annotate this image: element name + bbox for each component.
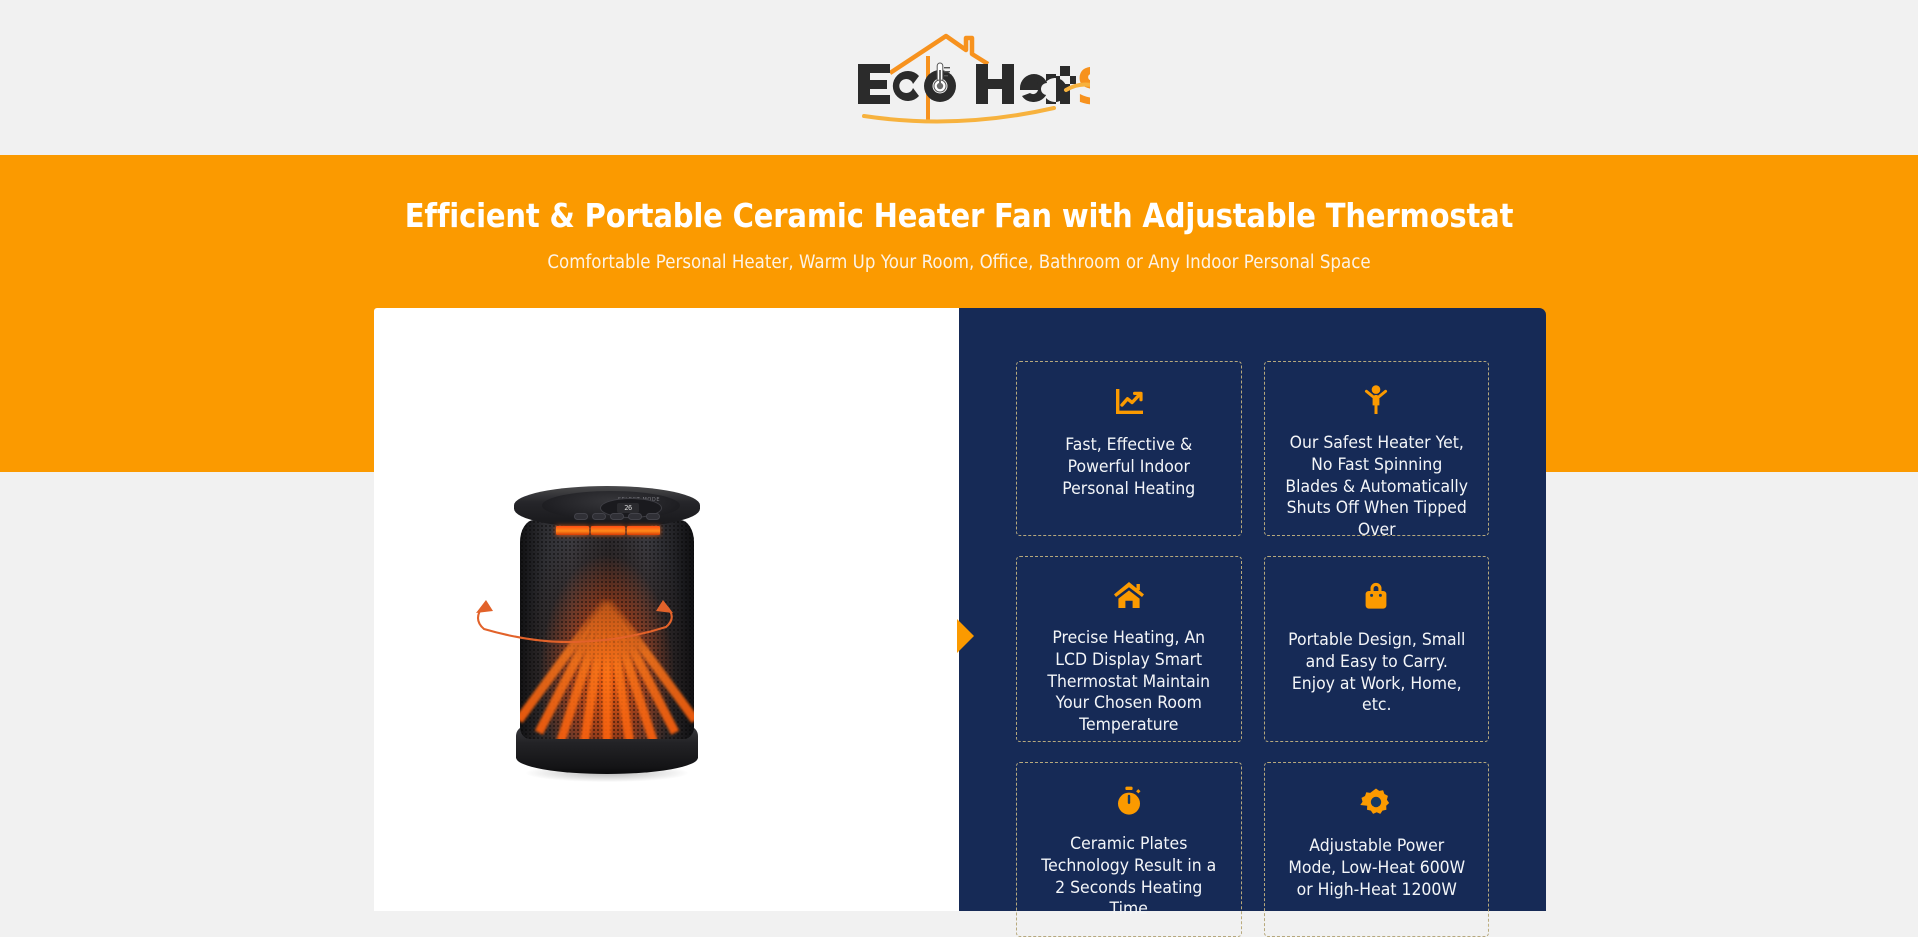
stopwatch-icon bbox=[1112, 785, 1146, 817]
heater-lcd-display: 26 bbox=[617, 503, 639, 513]
heater-led-indicator bbox=[556, 526, 660, 535]
feature-text: Ceramic Plates Technology Result in a 2 … bbox=[1036, 833, 1222, 920]
home-icon bbox=[1112, 579, 1146, 611]
hero-title: Efficient & Portable Ceramic Heater Fan … bbox=[115, 196, 1803, 235]
feature-text: Our Safest Heater Yet, No Fast Spinning … bbox=[1283, 432, 1469, 541]
feature-text: Adjustable Power Mode, Low-Heat 600W or … bbox=[1283, 835, 1469, 900]
child-safety-icon bbox=[1359, 384, 1393, 416]
site-header: S bbox=[0, 0, 1918, 155]
gear-icon bbox=[1359, 785, 1393, 819]
heater-button-up[interactable] bbox=[610, 513, 624, 520]
product-showcase: SELECT MODE 26 bbox=[374, 308, 1546, 911]
feature-grid: Fast, Effective & Powerful Indoor Person… bbox=[1016, 361, 1489, 937]
heater-button-power[interactable] bbox=[574, 513, 588, 520]
feature-text: Fast, Effective & Powerful Indoor Person… bbox=[1036, 434, 1222, 499]
heater-button-mode[interactable] bbox=[592, 513, 606, 520]
chevron-right-icon[interactable] bbox=[957, 619, 974, 653]
hero-subtitle: Comfortable Personal Heater, Warm Up You… bbox=[96, 252, 1822, 273]
feature-card: Precise Heating, An LCD Display Smart Th… bbox=[1016, 556, 1242, 742]
oscillation-arrows-icon bbox=[462, 583, 687, 643]
logo-graphic: S bbox=[828, 26, 1090, 130]
chart-line-up-icon bbox=[1112, 384, 1146, 418]
feature-text: Portable Design, Small and Easy to Carry… bbox=[1283, 629, 1469, 716]
heater-button-timer[interactable] bbox=[646, 513, 660, 520]
feature-card: Portable Design, Small and Easy to Carry… bbox=[1264, 556, 1490, 742]
product-stage: SELECT MODE 26 bbox=[374, 308, 959, 911]
heater-control-panel[interactable]: SELECT MODE 26 bbox=[542, 491, 680, 520]
feature-card: Fast, Effective & Powerful Indoor Person… bbox=[1016, 361, 1242, 536]
feature-panel: Fast, Effective & Powerful Indoor Person… bbox=[959, 308, 1546, 911]
feature-text: Precise Heating, An LCD Display Smart Th… bbox=[1036, 627, 1222, 736]
logo[interactable]: S bbox=[828, 26, 1090, 130]
product-image-panel: SELECT MODE 26 bbox=[374, 308, 959, 911]
heater-top-cap: SELECT MODE 26 bbox=[514, 486, 700, 528]
feature-card: Our Safest Heater Yet, No Fast Spinning … bbox=[1264, 361, 1490, 536]
bag-icon bbox=[1359, 579, 1393, 613]
heater-button-down[interactable] bbox=[628, 513, 642, 520]
